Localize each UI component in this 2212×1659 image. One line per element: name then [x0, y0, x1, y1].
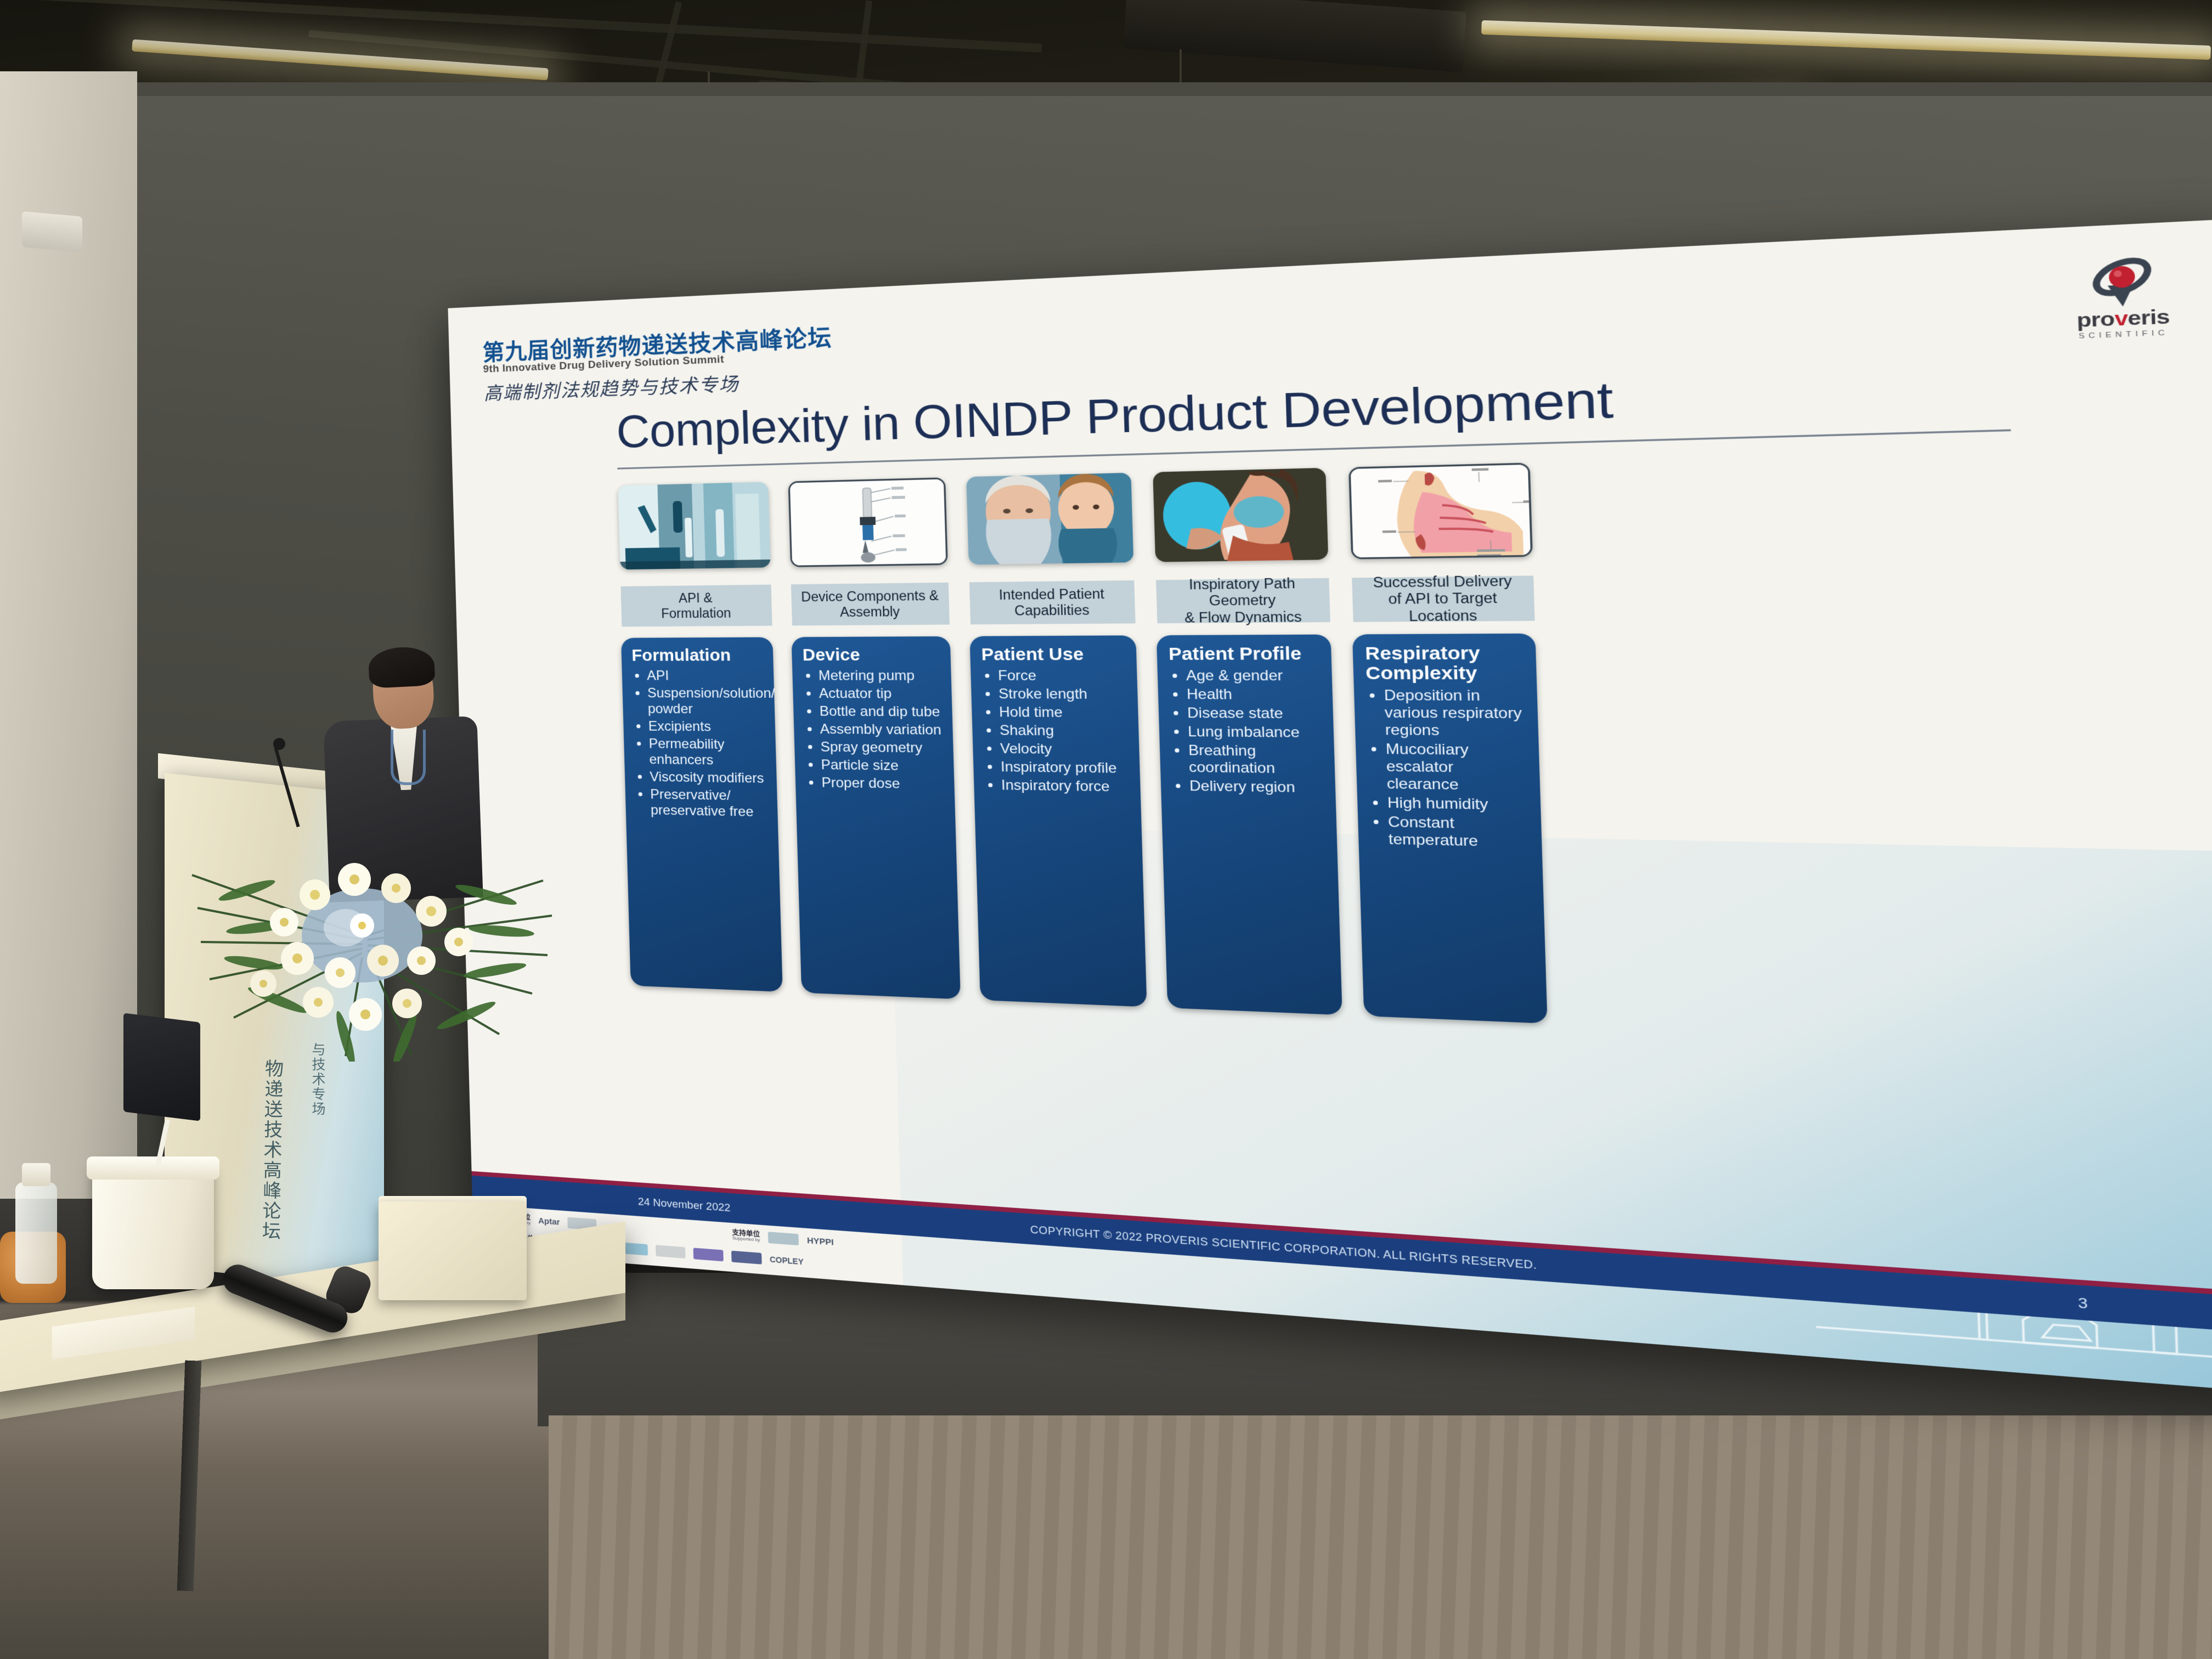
box-list: Deposition in various respiratory region…: [1366, 687, 1532, 851]
caption-api-formulation: API & Formulation: [620, 585, 772, 627]
detail-box-row: Formulation API Suspension/solution/ pow…: [621, 630, 2212, 1052]
box-heading: Patient Use: [981, 645, 1127, 664]
sponsor-logo-cphi-2: [768, 1232, 799, 1245]
list-item: Disease state: [1187, 705, 1324, 723]
caption-text: Intended Patient Capabilities: [998, 586, 1105, 619]
list-item: Velocity: [1000, 741, 1131, 759]
caption-text: Device Components & Assembly: [801, 588, 939, 620]
box-heading: Device: [802, 646, 942, 664]
list-item: Constant temperature: [1388, 814, 1532, 852]
proveris-accent-v: v: [2114, 308, 2128, 330]
lab-formulation-photo: [618, 482, 770, 569]
list-item: Breathing coordination: [1188, 742, 1326, 778]
caption-text: Inspiratory Path Geometry & Flow Dynamic…: [1160, 575, 1326, 626]
conference-room-scene: 第九届创新药物递送技术高峰论坛 9th Innovative Drug Deli…: [0, 0, 2212, 1659]
list-item: Excipients: [648, 719, 767, 735]
podium-microphone-head: [273, 738, 285, 750]
box-patient-use: Patient Use Force Stroke length Hold tim…: [969, 635, 1147, 1007]
list-item: Mucociliary escalator clearance: [1385, 741, 1530, 795]
list-item: Metering pump: [818, 668, 943, 684]
sponsor-label-supported: 支持单位 Supported by: [732, 1229, 760, 1243]
list-item: Health: [1187, 686, 1323, 704]
list-item: Force: [998, 668, 1128, 685]
list-item: Viscosity modifiers: [650, 770, 769, 787]
sponsor-logo-z: [731, 1251, 762, 1265]
device-diagram: [788, 477, 948, 567]
box-heading: Patient Profile: [1169, 644, 1322, 664]
box-list: Metering pump Actuator tip Bottle and di…: [803, 668, 946, 793]
box-device: Device Metering pump Actuator tip Bottle…: [791, 636, 960, 1000]
box-heading: Formulation: [631, 646, 765, 664]
sponsor-logo-engineering: [656, 1245, 686, 1259]
box-heading: Respiratory Complexity: [1365, 644, 1527, 684]
box-list: API Suspension/solution/ powder Excipien…: [632, 668, 770, 821]
page-number: 3: [2078, 1294, 2088, 1312]
list-item: Inspiratory profile: [1001, 759, 1131, 777]
sponsor-logo-hyppi: HYPPI: [807, 1235, 834, 1247]
caption-inspiratory-path: Inspiratory Path Geometry & Flow Dynamic…: [1156, 578, 1330, 623]
sponsor-logo-copley: COPLEY: [770, 1255, 804, 1266]
paper-cup: [92, 1163, 214, 1289]
elderly-woman-and-child-photo: [966, 473, 1133, 565]
thumbnail-row: [618, 445, 2209, 580]
caption-successful-delivery: Successful Delivery of API to Target Loc…: [1352, 575, 1534, 622]
slide-title: Complexity in OINDP Product Development: [616, 356, 2018, 459]
caption-text: Successful Delivery of API to Target Loc…: [1356, 573, 1531, 625]
list-item: Delivery region: [1189, 778, 1327, 797]
proveris-mark-icon: [2082, 252, 2162, 311]
list-item: Suspension/solution/ powder: [647, 685, 767, 718]
list-item: API: [647, 668, 766, 684]
wood-floor: [549, 1415, 2212, 1659]
list-item: Spray geometry: [820, 740, 945, 757]
list-item: Stroke length: [998, 686, 1129, 703]
box-respiratory-complexity: Respiratory Complexity Deposition in var…: [1352, 634, 1548, 1024]
water-bottle: [15, 1182, 57, 1284]
paper-cup-lid: [87, 1156, 219, 1180]
confidence-monitor: [123, 1013, 200, 1121]
event-subtitle-cn: 高端制剂法规趋势与技术专场: [483, 369, 740, 405]
list-item: High humidity: [1387, 795, 1531, 815]
nasal-spray-use-photo: [1153, 468, 1328, 562]
list-item: Deposition in various respiratory region…: [1384, 687, 1528, 740]
list-item: Shaking: [1000, 723, 1130, 740]
wall-column: [0, 71, 137, 1278]
nasal-anatomy-diagram: [1348, 462, 1533, 559]
sponsor-logo-aptar: Aptar: [538, 1216, 560, 1227]
list-item: Particle size: [821, 757, 945, 775]
list-item: Preservative/ preservative free: [650, 787, 770, 821]
box-patient-profile: Patient Profile Age & gender Health Dise…: [1156, 634, 1342, 1015]
list-item: Proper dose: [821, 775, 946, 793]
water-bottle-cap: [22, 1163, 50, 1186]
proveris-logo: proveris SCIENTIFIC: [2050, 251, 2195, 341]
sponsor-logo-powder: [693, 1248, 723, 1261]
list-item: Bottle and dip tube: [819, 704, 944, 721]
box-formulation: Formulation API Suspension/solution/ pow…: [621, 637, 783, 992]
list-item: Inspiratory force: [1001, 777, 1132, 796]
podium-banner-text-cn: 物递送技术高峰论坛: [256, 1059, 286, 1242]
projection-screen: 第九届创新药物递送技术高峰论坛 9th Innovative Drug Deli…: [448, 219, 2212, 1393]
cardboard-box: [379, 1201, 527, 1300]
box-list: Age & gender Health Disease state Lung i…: [1169, 668, 1326, 797]
box-list: Force Stroke length Hold time Shaking Ve…: [981, 668, 1131, 796]
caption-device-components: Device Components & Assembly: [791, 583, 950, 626]
list-item: Hold time: [999, 704, 1130, 722]
wall-speaker: [22, 211, 82, 252]
list-item: Lung imbalance: [1188, 724, 1325, 742]
proveris-wordmark: proveris: [2052, 306, 2195, 332]
floral-arrangement: [181, 798, 565, 1062]
list-item: Permeability enhancers: [648, 736, 768, 769]
caption-text: API & Formulation: [661, 590, 731, 622]
sponsor-label-en: Supported by: [732, 1236, 760, 1243]
list-item: Actuator tip: [819, 686, 943, 702]
list-item: Age & gender: [1186, 668, 1323, 685]
caption-intended-patient: Intended Patient Capabilities: [969, 580, 1136, 624]
list-item: Assembly variation: [820, 721, 944, 738]
slide: 第九届创新药物递送技术高峰论坛 9th Innovative Drug Deli…: [448, 219, 2212, 1393]
speaker-lanyard: [391, 730, 426, 785]
